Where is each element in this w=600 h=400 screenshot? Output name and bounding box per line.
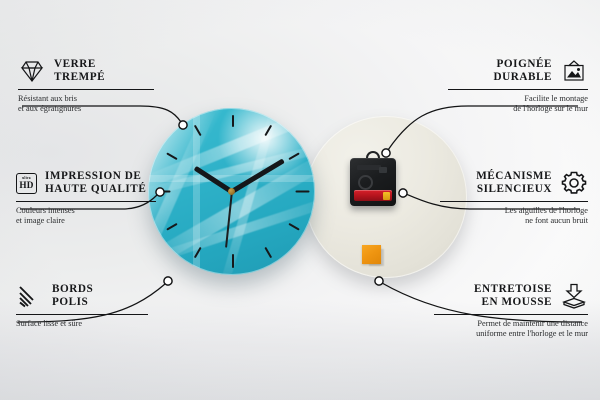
callout-title-line1: VERRE: [54, 58, 105, 71]
mechanism-body: [350, 158, 396, 206]
callout-title-line2: EN MOUSSE: [474, 296, 552, 309]
callout-title-line1: BORDS: [52, 283, 93, 296]
foam-spacer-arrow-icon: [560, 283, 588, 309]
callout-title-line2: TREMPÉ: [54, 71, 105, 84]
callout-divider: [16, 314, 148, 315]
callout-title-line2: SILENCIEUX: [476, 183, 552, 196]
callout-divider: [448, 89, 588, 90]
quartz-mechanism: [350, 158, 396, 206]
center-cap: [228, 188, 235, 195]
callout-title-line1: IMPRESSION DE: [45, 170, 146, 183]
polished-edges-icon: [16, 284, 44, 308]
wall-clock-front-face: [148, 108, 315, 275]
picture-hanger-icon: [560, 59, 588, 83]
callout-title-line2: DURABLE: [493, 71, 552, 84]
diamond-icon: [18, 59, 46, 83]
ultra-hd-main-text: HD: [19, 181, 33, 190]
gear-icon: [560, 170, 588, 196]
callout-title-line1: MÉCANISME: [476, 170, 552, 183]
callout-title-line1: POIGNÉE: [493, 58, 552, 71]
callout-silent-mechanism: MÉCANISME SILENCIEUX Les aiguilles de l'…: [440, 170, 588, 227]
callout-title-line1: ENTRETOISE: [474, 283, 552, 296]
foam-spacer-square: [362, 245, 381, 264]
callout-sub-line2: de l'horloge sur le mur: [448, 104, 588, 114]
callout-durable-hanger: POIGNÉE DURABLE Facilite le montage de l…: [448, 58, 588, 115]
foam-spacer: [362, 245, 384, 267]
callout-foam-spacer: ENTRETOISE EN MOUSSE Permet de maintenir…: [434, 283, 588, 340]
ultra-hd-badge-icon: ultra HD: [16, 173, 37, 194]
callout-sub-line1: Les aiguilles de l'horloge: [440, 206, 588, 216]
infographic-stage: VERRE TREMPÉ Résistant aux bris et aux é…: [0, 0, 600, 400]
callout-sub-line1: Couleurs intenses: [16, 206, 156, 216]
callout-tempered-glass: VERRE TREMPÉ Résistant aux bris et aux é…: [18, 58, 154, 115]
callout-sub-line2: uniforme entre l'horloge et le mur: [434, 329, 588, 339]
callout-sub-line2: ne font aucun bruit: [440, 216, 588, 226]
callout-high-quality-print: ultra HD IMPRESSION DE HAUTE QUALITÉ Cou…: [16, 170, 156, 227]
callout-sub-line1: Résistant aux bris: [18, 94, 154, 104]
mechanism-slot: [357, 165, 381, 170]
callout-divider: [16, 201, 156, 202]
callout-sub-line1: Surface lisse et sûre: [16, 319, 148, 329]
callout-divider: [18, 89, 154, 90]
callout-polished-edges: BORDS POLIS Surface lisse et sûre: [16, 283, 148, 329]
mechanism-nub: [379, 167, 387, 173]
callout-divider: [440, 201, 588, 202]
callout-sub-line1: Permet de maintenir une distance: [434, 319, 588, 329]
callout-title-line2: HAUTE QUALITÉ: [45, 183, 146, 196]
callout-sub-line1: Facilite le montage: [448, 94, 588, 104]
callout-title-line2: POLIS: [52, 296, 93, 309]
callout-divider: [434, 314, 588, 315]
callout-sub-line2: et image claire: [16, 216, 156, 226]
battery: [354, 190, 392, 201]
callout-sub-line2: et aux égratignures: [18, 104, 154, 114]
mechanism-dial: [358, 175, 373, 190]
